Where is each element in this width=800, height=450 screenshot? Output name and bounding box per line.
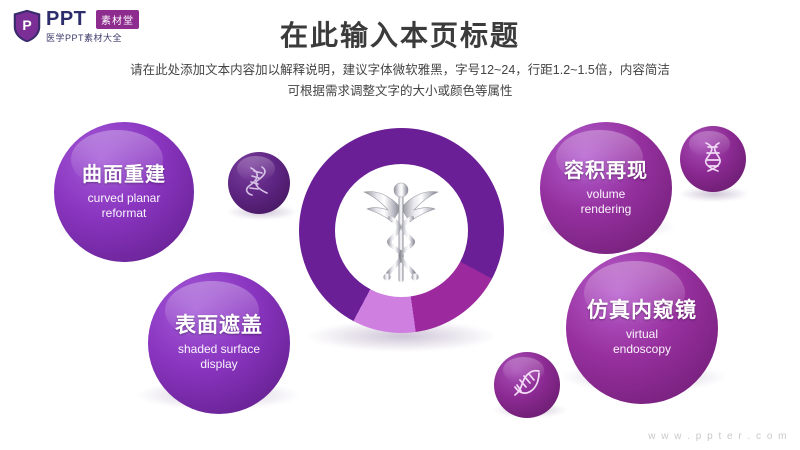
bubble-en-line-2: rendering	[581, 202, 632, 217]
icon-circle-dna-helix-left[interactable]	[228, 152, 290, 214]
bubble-title-cn: 表面遮盖	[175, 314, 263, 338]
bubble-en-line-2: endoscopy	[613, 342, 671, 357]
bubble-title-en: volume rendering	[581, 187, 632, 217]
bubble-en-line-1: shaded surface	[178, 342, 260, 357]
bubble-title-en: virtual endoscopy	[613, 327, 671, 357]
bubble-title-cn: 仿真内窥镜	[587, 299, 697, 323]
bubble-en-line-2: reformat	[88, 206, 161, 221]
bubble-title-en: shaded surface display	[178, 342, 260, 372]
subtitle-line-2: 可根据需求调整文字的大小或颜色等属性	[0, 81, 800, 102]
bubble-shaded-surface-display[interactable]: 表面遮盖 shaded surface display	[148, 272, 290, 414]
bubble-en-line-1: curved planar	[88, 191, 161, 206]
page-subtitle: 请在此处添加文本内容加以解释说明，建议字体微软雅黑，字号12~24，行距1.2~…	[0, 60, 800, 102]
dna-icon	[509, 365, 545, 406]
page-title: 在此输入本页标题	[0, 14, 800, 54]
watermark: w w w . p p t e r . c o m	[648, 431, 788, 442]
dna-icon	[695, 139, 731, 180]
dna-icon	[242, 164, 276, 203]
bubble-title-cn: 曲面重建	[82, 163, 166, 187]
bubble-en-line-1: virtual	[613, 327, 671, 342]
bubble-en-line-2: display	[178, 357, 260, 372]
icon-circle-dna-strand-bottom[interactable]	[494, 352, 560, 418]
bubble-en-line-1: volume	[581, 187, 632, 202]
bubble-title-cn: 容积再现	[564, 159, 648, 183]
caduceus-icon	[361, 176, 441, 286]
center-donut	[299, 128, 504, 333]
bubble-curved-planar-reformat[interactable]: 曲面重建 curved planar reformat	[54, 122, 194, 262]
icon-circle-dna-helix-right[interactable]	[680, 126, 746, 192]
bubble-virtual-endoscopy[interactable]: 仿真内窥镜 virtual endoscopy	[566, 252, 718, 404]
bubble-volume-rendering[interactable]: 容积再现 volume rendering	[540, 122, 672, 254]
subtitle-line-1: 请在此处添加文本内容加以解释说明，建议字体微软雅黑，字号12~24，行距1.2~…	[0, 60, 800, 81]
bubble-title-en: curved planar reformat	[88, 191, 161, 221]
